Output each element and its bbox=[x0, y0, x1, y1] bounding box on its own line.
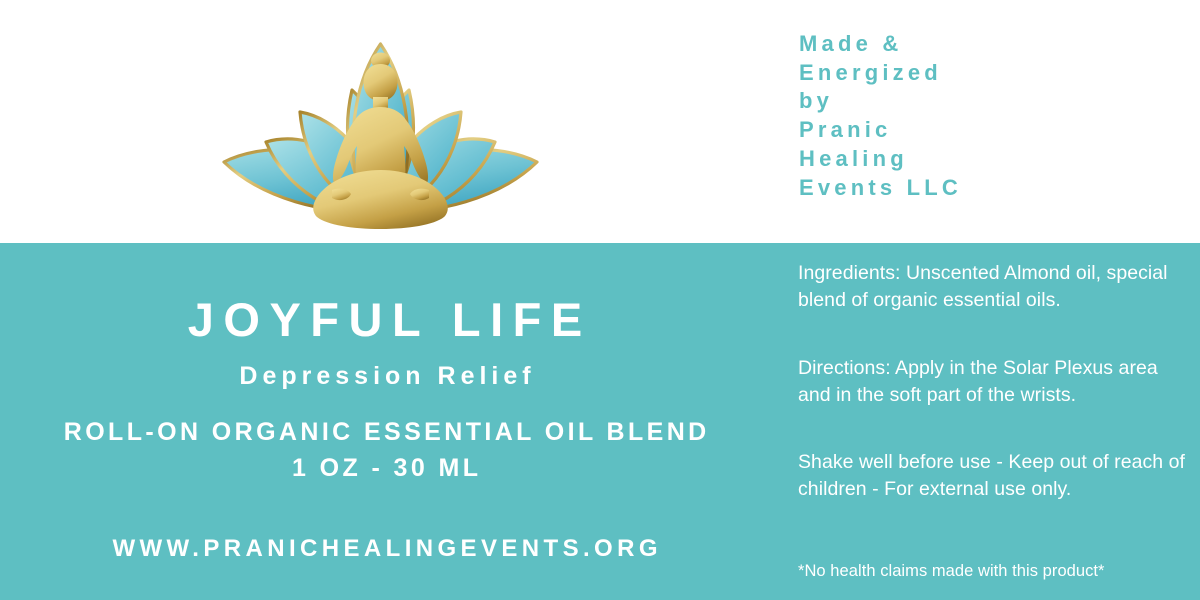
maker-line-1: Made & bbox=[799, 30, 1179, 59]
product-size: 1 OZ - 30 ML bbox=[0, 450, 770, 486]
product-title: JOYFUL LIFE bbox=[0, 294, 770, 346]
maker-line-3: by bbox=[799, 87, 1179, 116]
safety-text: Shake well before use - Keep out of reac… bbox=[798, 449, 1190, 502]
maker-line-4: Pranic bbox=[799, 116, 1179, 145]
product-info-panel: Ingredients: Unscented Almond oil, speci… bbox=[798, 243, 1188, 600]
disclaimer-text: *No health claims made with this product… bbox=[798, 560, 1190, 582]
directions-text: Directions: Apply in the Solar Plexus ar… bbox=[798, 355, 1190, 408]
product-main-panel: JOYFUL LIFE Depression Relief ROLL-ON OR… bbox=[0, 243, 770, 600]
maker-heading: Made & Energized by Pranic Healing Event… bbox=[799, 30, 1179, 202]
product-website-url[interactable]: WWW.PRANICHEALINGEVENTS.ORG bbox=[0, 534, 770, 564]
maker-line-6: Events LLC bbox=[799, 174, 1179, 203]
product-subtitle: Depression Relief bbox=[0, 361, 770, 391]
product-description: ROLL-ON ORGANIC ESSENTIAL OIL BLEND bbox=[0, 414, 770, 450]
product-label: Made & Energized by Pranic Healing Event… bbox=[0, 0, 1200, 600]
ingredients-text: Ingredients: Unscented Almond oil, speci… bbox=[798, 260, 1190, 313]
maker-line-2: Energized bbox=[799, 59, 1179, 88]
maker-line-5: Healing bbox=[799, 145, 1179, 174]
lotus-meditation-logo bbox=[208, 12, 553, 234]
